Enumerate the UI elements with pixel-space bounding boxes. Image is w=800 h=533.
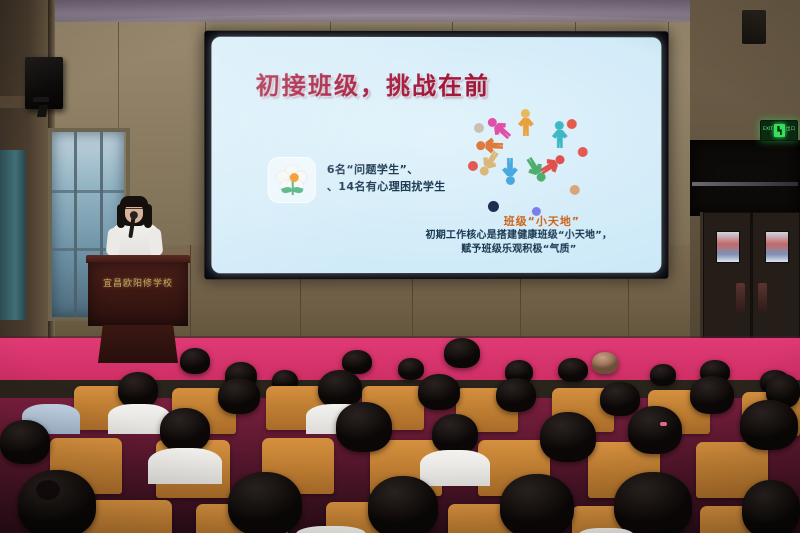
daisy-flower-icon [276, 163, 308, 197]
podium-engraved-text: 宜昌欧阳修学校 [94, 276, 182, 289]
dark-recess [690, 140, 800, 216]
presentation-slide: 初接班级，挑战在前 6名“问题学生”、 、14名有心理困扰学生 [211, 37, 661, 274]
flower-icon-card [268, 157, 316, 203]
circle-of-people-graphic [466, 107, 596, 219]
door-handle[interactable] [758, 283, 767, 313]
projection-screen: 初接班级，挑战在前 6名“问题学生”、 、14名有心理困扰学生 [204, 31, 668, 280]
door-window [716, 231, 740, 263]
curtain [0, 150, 26, 320]
auditorium-photo: EXIT 出口 初接班级，挑战在前 6名“问题学生”、 、14名有心理困 [0, 0, 800, 533]
wall-loudspeaker-left [25, 57, 63, 109]
slide-body-text: 初期工作核心是搭建健康班级“小天地”， 赋予班级乐观积极“气质” [380, 229, 657, 257]
door-window [765, 231, 789, 263]
audience-seating [0, 330, 800, 533]
presenter [104, 196, 166, 260]
exit-sign-left-label: EXIT [763, 128, 773, 133]
emergency-exit-sign: EXIT 出口 [760, 120, 798, 141]
exit-sign-right-label: 出口 [786, 128, 795, 133]
running-man-icon [774, 124, 785, 137]
slide-subheading: 班级“小天地” [427, 213, 656, 229]
body-line-1: 初期工作核心是搭建健康班级“小天地”， [380, 229, 657, 243]
wall-loudspeaker-right [742, 10, 766, 44]
body-line-2: 赋予班级乐观积极“气质” [380, 243, 657, 257]
slide-title: 初接班级，挑战在前 [256, 66, 490, 101]
door-handle[interactable] [736, 283, 745, 313]
